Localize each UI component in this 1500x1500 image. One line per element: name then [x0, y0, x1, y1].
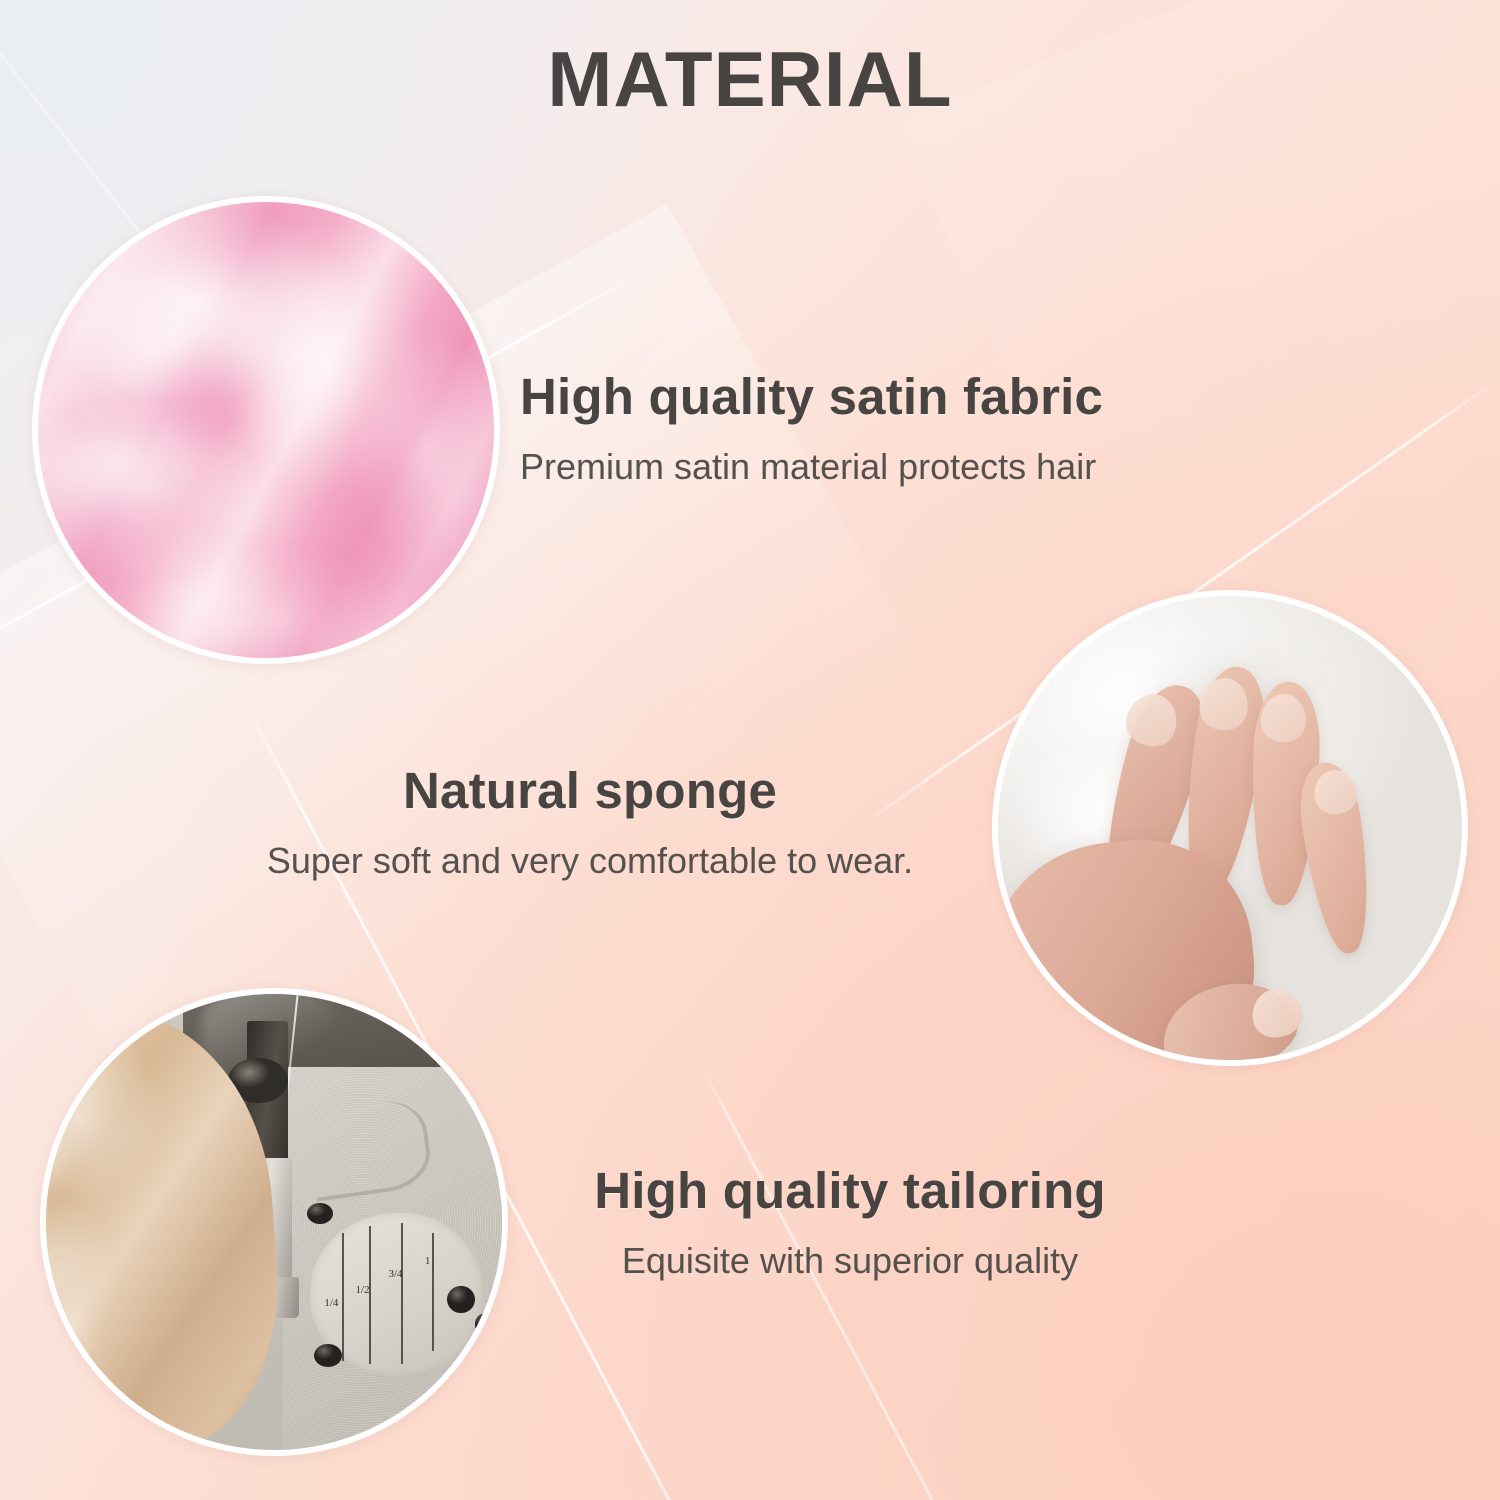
sponge-image-circle: [992, 590, 1468, 1066]
infographic-canvas: MATERIAL: [0, 0, 1500, 1500]
plate-mark-three-quarter: 3/4: [388, 1269, 402, 1280]
satin-fold-highlight-e: [47, 461, 367, 658]
feature-heading-sponge: Natural sponge: [180, 762, 1000, 819]
plate-mark-quarter: 1/4: [324, 1298, 338, 1309]
satin-fabric-image-circle: [32, 196, 500, 664]
feature-heading-satin: High quality satin fabric: [520, 368, 1360, 425]
fabric-fold-highlight-3: [46, 1257, 135, 1433]
feature-block-tailoring: High quality tailoring Equisite with sup…: [470, 1162, 1230, 1282]
plate-guide-line-4: [432, 1233, 434, 1351]
fabric-fold-shadow-2: [46, 1204, 70, 1337]
satin-fold-highlight-c: [38, 362, 268, 562]
satin-fold-highlight-b: [161, 202, 435, 524]
plate-mark-half: 1/2: [356, 1285, 370, 1296]
fabric-fold-highlight-1: [46, 1062, 106, 1229]
feature-subtext-sponge: Super soft and very comfortable to wear.: [180, 839, 1000, 882]
sponge-foam-photo: [998, 596, 1462, 1060]
satin-fold-shadow-d: [221, 379, 494, 658]
feature-block-satin: High quality satin fabric Premium satin …: [520, 368, 1360, 488]
satin-fold-shadow-f: [88, 274, 325, 513]
bobbin-cover-screw: [447, 1286, 474, 1313]
pink-satin-fabric-photo: [38, 202, 494, 658]
feature-subtext-tailoring: Equisite with superior quality: [470, 1239, 1230, 1282]
feature-block-sponge: Natural sponge Super soft and very comfo…: [180, 762, 1000, 882]
satin-fold-highlight-a: [38, 202, 379, 540]
page-title: MATERIAL: [0, 34, 1500, 125]
sewing-machine-photo: 1/4 1/2 3/4 1: [46, 994, 502, 1450]
feature-subtext-satin: Premium satin material protects hair: [520, 445, 1360, 488]
sewing-image-circle: 1/4 1/2 3/4 1: [40, 988, 508, 1456]
plate-screw-bottom: [314, 1344, 342, 1367]
feature-heading-tailoring: High quality tailoring: [470, 1162, 1230, 1219]
plate-guide-line-1: [342, 1233, 344, 1361]
plate-guide-line-2: [369, 1226, 371, 1364]
hand-pressing-sponge: [998, 698, 1434, 1060]
plate-guide-line-3: [401, 1223, 403, 1364]
plate-mark-one: 1: [425, 1256, 431, 1267]
